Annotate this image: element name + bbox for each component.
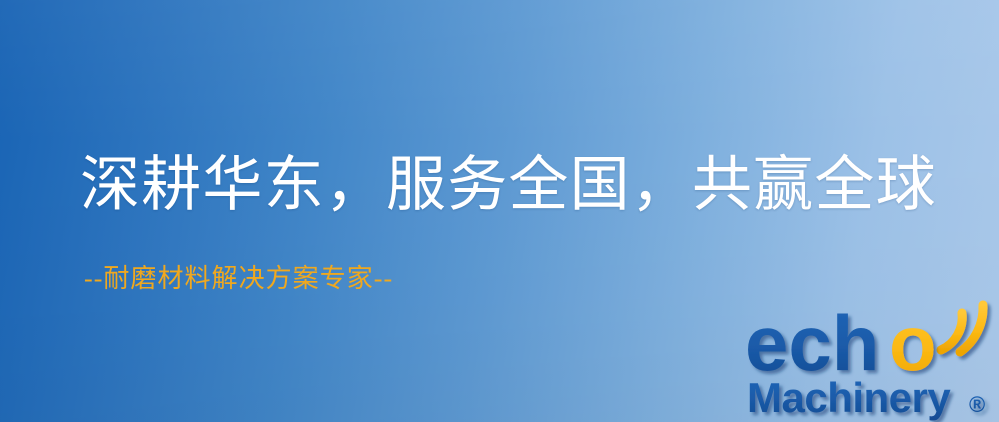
logo-registered-mark: ® [969, 392, 985, 417]
hero-banner: 深耕华东，服务全国，共赢全球 --耐磨材料解决方案专家-- [0, 0, 999, 422]
signal-arcs-icon [941, 305, 983, 352]
banner-subtitle: --耐磨材料解决方案专家-- [84, 266, 393, 292]
logo-tagline: Machinery [747, 374, 951, 421]
echo-machinery-logo[interactable]: ech o Machinery ® [745, 296, 999, 422]
banner-headline: 深耕华东，服务全国，共赢全球 [80, 155, 937, 215]
